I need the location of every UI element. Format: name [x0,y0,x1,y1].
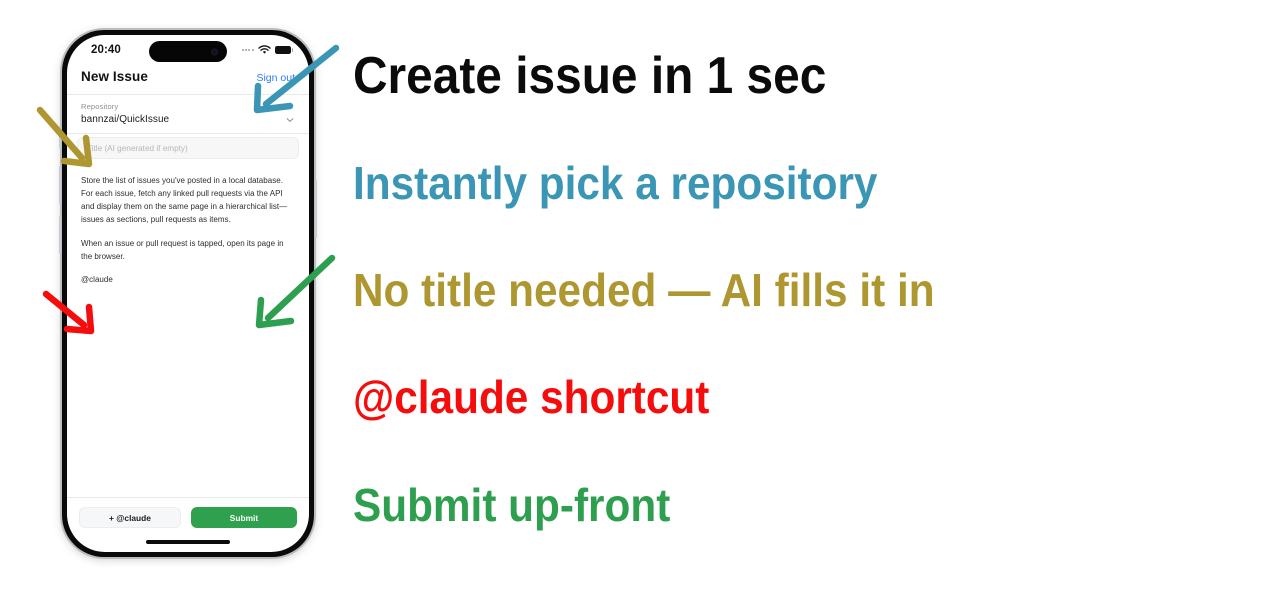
status-bar: 20:40 [67,35,309,65]
annotation-pick-repository: Instantly pick a repository [353,160,877,206]
issue-body-paragraph: Store the list of issues you've posted i… [81,175,295,227]
sign-out-link[interactable]: Sign out [256,72,295,84]
issue-body-textarea[interactable]: Store the list of issues you've posted i… [67,159,309,497]
action-bar: + @claude Submit [67,498,309,528]
screenshot-canvas: 20:40 [0,0,1286,592]
dynamic-island [149,41,227,62]
phone-power-button [315,180,317,238]
signal-dots-icon [242,49,254,51]
page-title: New Issue [81,69,148,84]
annotation-claude-shortcut: @claude shortcut [353,374,709,420]
battery-icon [275,46,293,54]
title-input[interactable]: Title (AI generated if empty) [77,137,299,159]
chevron-down-icon[interactable] [285,115,295,125]
title-input-placeholder: Title (AI generated if empty) [87,144,188,153]
home-indicator [146,540,230,544]
submit-button[interactable]: Submit [191,507,297,528]
phone-screen: 20:40 [67,35,309,552]
phone-volume-down-button [59,216,61,254]
phone-volume-up-button [59,166,61,204]
phone-mockup: 20:40 [62,30,314,557]
issue-body-paragraph: When an issue or pull request is tapped,… [81,238,295,264]
wifi-icon [258,45,271,55]
repository-selector[interactable]: Repository bannzai/QuickIssue [67,95,309,133]
repository-row: bannzai/QuickIssue [81,114,295,125]
status-bar-indicators [242,45,293,55]
status-bar-time: 20:40 [91,44,121,56]
add-claude-button[interactable]: + @claude [79,507,181,528]
front-camera-icon [211,48,218,55]
repository-divider [67,133,309,134]
annotation-create-issue: Create issue in 1 sec [353,50,826,102]
repository-value: bannzai/QuickIssue [81,114,169,125]
phone-mute-switch [59,126,61,148]
issue-body-mention: @claude [81,274,295,287]
annotation-no-title-needed: No title needed — AI fills it in [353,267,935,313]
annotation-submit-up-front: Submit up-front [353,482,670,528]
app-header: New Issue Sign out [67,65,309,94]
repository-label: Repository [81,102,295,111]
